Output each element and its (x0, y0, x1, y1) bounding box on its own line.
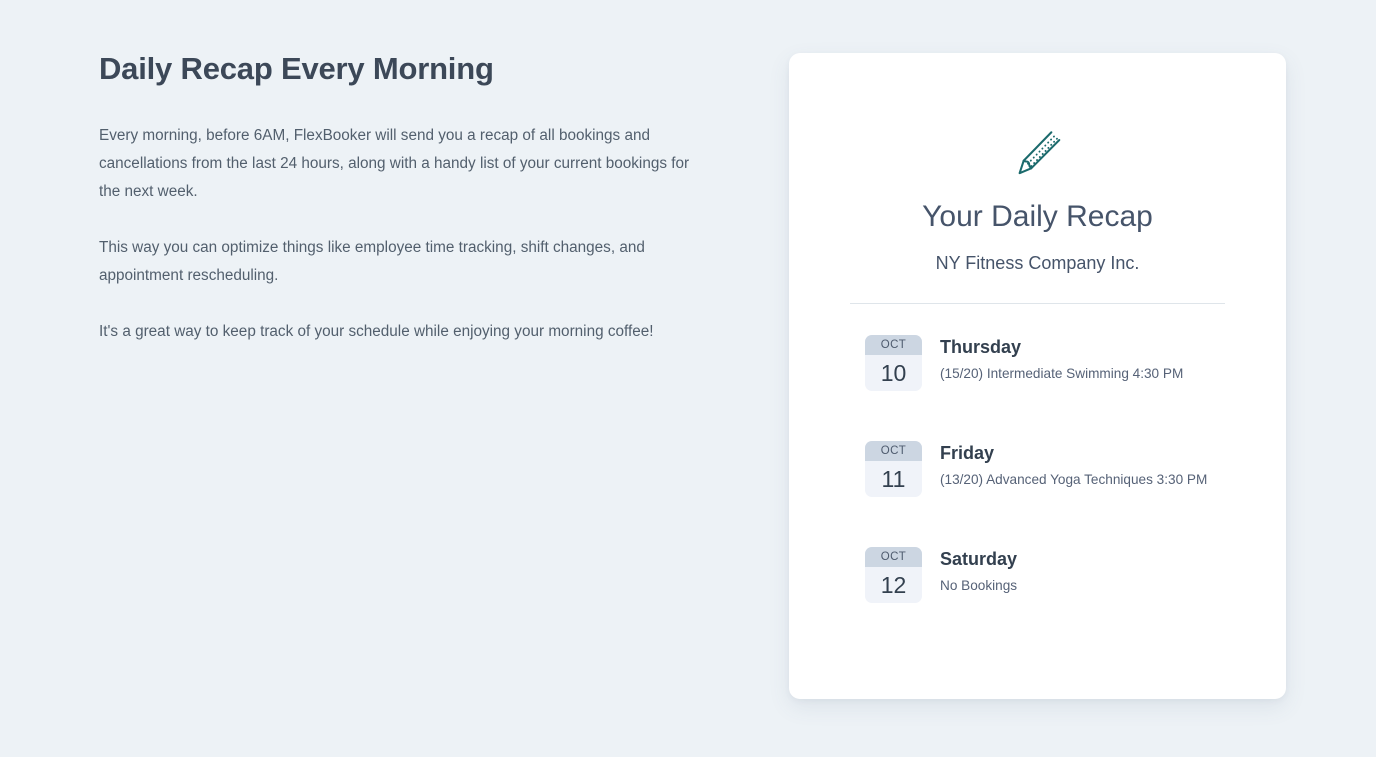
card-icon-wrap (789, 53, 1286, 184)
day-weekday: Thursday (940, 335, 1183, 359)
day-info: Friday (13/20) Advanced Yoga Techniques … (940, 438, 1207, 489)
body-paragraph-2: This way you can optimize things like em… (99, 234, 699, 290)
daily-recap-card: Your Daily Recap NY Fitness Company Inc.… (789, 53, 1286, 699)
pencil-icon (1007, 122, 1069, 184)
day-weekday: Saturday (940, 547, 1017, 571)
date-badge-day: 12 (865, 567, 922, 603)
day-detail: (15/20) Intermediate Swimming 4:30 PM (940, 365, 1183, 383)
body-paragraph-1: Every morning, before 6AM, FlexBooker wi… (99, 122, 699, 206)
day-detail: No Bookings (940, 577, 1017, 595)
list-item[interactable]: OCT 10 Thursday (15/20) Intermediate Swi… (789, 332, 1286, 403)
date-badge-month: OCT (865, 441, 922, 461)
marketing-copy-column: Daily Recap Every Morning Every morning,… (99, 50, 709, 346)
day-info: Thursday (15/20) Intermediate Swimming 4… (940, 332, 1183, 383)
day-weekday: Friday (940, 441, 1207, 465)
day-list: OCT 10 Thursday (15/20) Intermediate Swi… (789, 304, 1286, 615)
card-title: Your Daily Recap (789, 199, 1286, 235)
date-badge-month: OCT (865, 335, 922, 355)
body-paragraph-3: It's a great way to keep track of your s… (99, 318, 699, 346)
list-item[interactable]: OCT 11 Friday (13/20) Advanced Yoga Tech… (789, 438, 1286, 509)
day-detail: (13/20) Advanced Yoga Techniques 3:30 PM (940, 471, 1207, 489)
page-root: Daily Recap Every Morning Every morning,… (0, 0, 1376, 757)
date-badge-month: OCT (865, 547, 922, 567)
day-info: Saturday No Bookings (940, 544, 1017, 595)
card-subtitle: NY Fitness Company Inc. (789, 252, 1286, 274)
page-title: Daily Recap Every Morning (99, 50, 709, 88)
date-badge: OCT 11 (865, 441, 922, 497)
date-badge-day: 11 (865, 461, 922, 497)
date-badge: OCT 10 (865, 335, 922, 391)
list-item[interactable]: OCT 12 Saturday No Bookings (789, 544, 1286, 615)
date-badge: OCT 12 (865, 547, 922, 603)
date-badge-day: 10 (865, 355, 922, 391)
